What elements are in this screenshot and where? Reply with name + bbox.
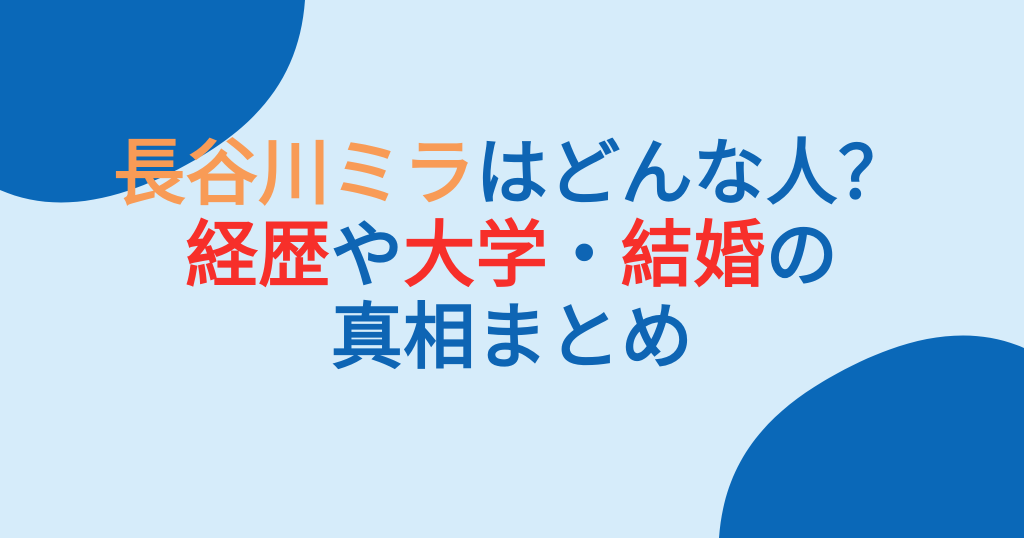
title-line-2-segment-5: 結婚 [621, 216, 766, 296]
title-line-2: 経歴や大学・結婚の [0, 215, 1024, 297]
title-line-1-segment-1: 長谷川ミラ [113, 134, 476, 214]
thumbnail-canvas: 長谷川ミラはどんな人？ 経歴や大学・結婚の 真相まとめ [0, 0, 1024, 538]
page-title: 長谷川ミラはどんな人？ 経歴や大学・結婚の 真相まとめ [0, 133, 1024, 379]
title-line-1: 長谷川ミラはどんな人？ [0, 133, 1024, 215]
title-line-2-segment-1: 経歴 [186, 216, 331, 296]
title-line-2-segment-2: や [331, 216, 404, 296]
title-line-2-segment-3: 大学 [403, 216, 548, 296]
title-line-1-segment-2: はどんな人？ [476, 134, 911, 214]
title-line-2-segment-6: の [766, 216, 839, 296]
title-line-2-segment-4: ・ [548, 216, 621, 296]
title-line-3-segment-1: 真相まとめ [331, 298, 694, 378]
title-line-3: 真相まとめ [0, 297, 1024, 379]
